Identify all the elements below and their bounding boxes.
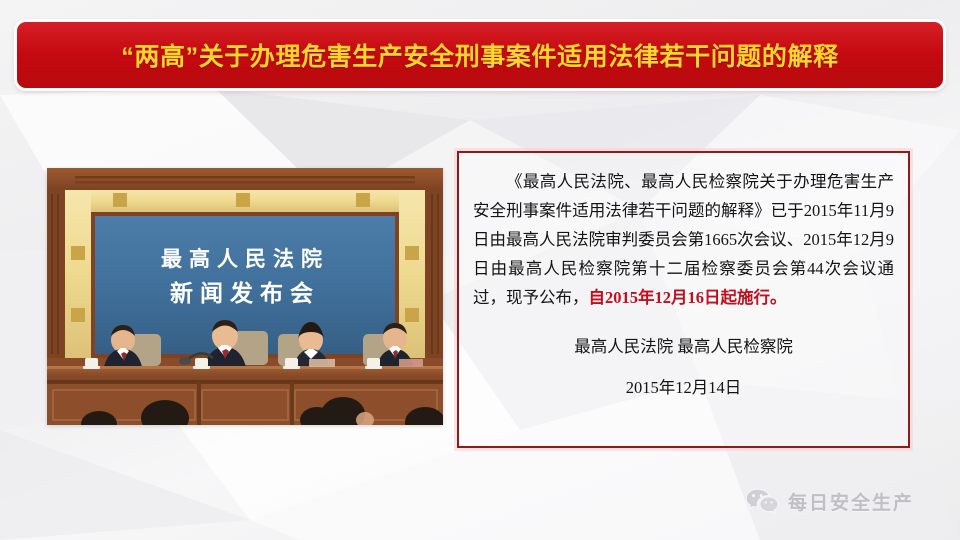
wechat-account-name: 每日安全生产 (788, 488, 914, 515)
slide-canvas: “两高”关于办理危害生产安全刑事案件适用法律若干问题的解释 (0, 0, 960, 540)
wechat-icon (745, 487, 779, 515)
page-title: “两高”关于办理危害生产安全刑事案件适用法律若干问题的解释 (121, 37, 838, 73)
notice-paragraph-main: 《最高人民法院、最高人民检察院关于办理危害生产安全刑事案件适用法律若干问题的解释… (473, 172, 894, 307)
notice-date: 2015年12月14日 (473, 373, 894, 402)
notice-body: 《最高人民法院、最高人民检察院关于办理危害生产安全刑事案件适用法律若干问题的解释… (459, 153, 908, 402)
press-conference-photo: 最高人民法院 新闻发布会 (47, 168, 443, 425)
notice-box: 《最高人民法院、最高人民检察院关于办理危害生产安全刑事案件适用法律若干问题的解释… (457, 151, 910, 448)
wechat-watermark: 每日安全生产 (745, 487, 914, 515)
title-banner: “两高”关于办理危害生产安全刑事案件适用法律若干问题的解释 (17, 22, 943, 88)
notice-effective-date-highlight: 自2015年12月16日起施行。 (589, 288, 787, 307)
photo-backdrop-line2: 新闻发布会 (170, 280, 320, 306)
notice-paragraph: 《最高人民法院、最高人民检察院关于办理危害生产安全刑事案件适用法律若干问题的解释… (473, 167, 894, 312)
photo-backdrop-line1: 最高人民法院 (161, 247, 329, 271)
notice-signature: 最高人民法院 最高人民检察院 (473, 332, 894, 361)
photo-illustration: 最高人民法院 新闻发布会 (47, 168, 443, 425)
